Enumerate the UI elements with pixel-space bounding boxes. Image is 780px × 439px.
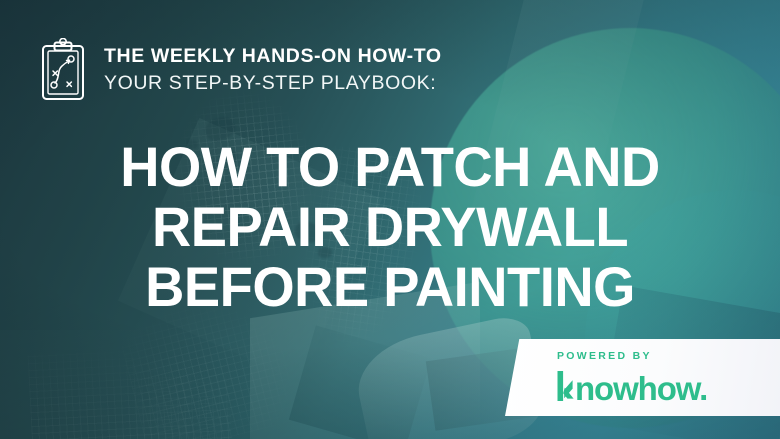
header: THE WEEKLY HANDS-ON HOW-TO YOUR STEP-BY-… [40, 38, 442, 102]
title-line-3: BEFORE PAINTING [45, 260, 736, 315]
page-title: HOW TO PATCH AND REPAIR DRYWALL BEFORE P… [0, 140, 780, 315]
header-text: THE WEEKLY HANDS-ON HOW-TO YOUR STEP-BY-… [104, 47, 442, 93]
knowhow-k-icon [557, 369, 574, 403]
title-line-2: REPAIR DRYWALL [45, 200, 736, 255]
title-line-1: HOW TO PATCH AND [45, 140, 736, 195]
badge-content: POWERED BY nowhow. [557, 351, 707, 403]
header-subkicker: YOUR STEP-BY-STEP PLAYBOOK: [104, 74, 442, 94]
knowhow-wordmark: nowhow. [575, 375, 707, 402]
header-kicker: THE WEEKLY HANDS-ON HOW-TO [104, 47, 442, 67]
powered-by-badge: POWERED BY nowhow. [505, 339, 780, 416]
powered-by-label: POWERED BY [557, 351, 707, 362]
clipboard-playbook-icon [40, 38, 86, 102]
title-card: THE WEEKLY HANDS-ON HOW-TO YOUR STEP-BY-… [0, 0, 780, 439]
card-content: THE WEEKLY HANDS-ON HOW-TO YOUR STEP-BY-… [0, 0, 780, 439]
knowhow-logo: nowhow. [557, 369, 707, 403]
